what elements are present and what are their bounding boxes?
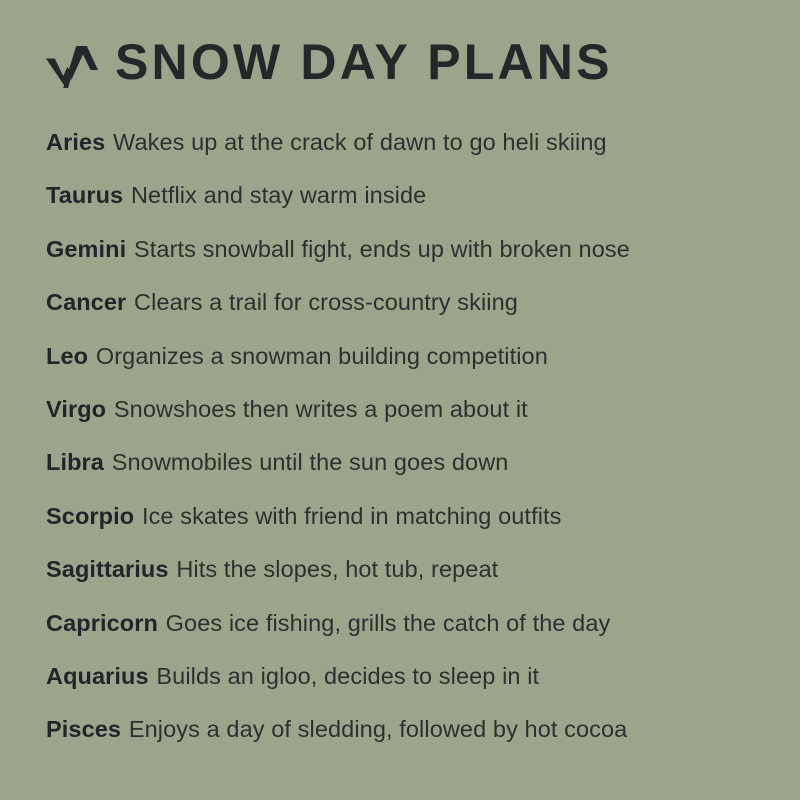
poster-canvas: SNOW DAY PLANS Aries Wakes up at the cra… (0, 0, 800, 800)
list-item: Leo Organizes a snowman building competi… (46, 343, 770, 396)
list-item: Aries Wakes up at the crack of dawn to g… (46, 129, 770, 182)
zodiac-sign-name: Sagittarius (46, 556, 169, 582)
zodiac-sign-name: Aquarius (46, 663, 149, 689)
list-item: Virgo Snowshoes then writes a poem about… (46, 396, 770, 449)
zodiac-sign-name: Aries (46, 129, 105, 155)
zodiac-plan-text: Ice skates with friend in matching outfi… (142, 503, 562, 529)
zodiac-plan-text: Goes ice fishing, grills the catch of th… (166, 610, 611, 636)
zodiac-plan-list: Aries Wakes up at the crack of dawn to g… (46, 129, 770, 770)
zodiac-plan-text: Wakes up at the crack of dawn to go heli… (113, 129, 607, 155)
zodiac-sign-name: Gemini (46, 236, 126, 262)
zodiac-plan-text: Enjoys a day of sledding, followed by ho… (129, 716, 628, 742)
list-item: Capricorn Goes ice fishing, grills the c… (46, 610, 770, 663)
zodiac-plan-text: Starts snowball fight, ends up with brok… (134, 236, 630, 262)
zodiac-sign-name: Virgo (46, 396, 106, 422)
page-title: SNOW DAY PLANS (115, 37, 613, 87)
zodiac-sign-name: Capricorn (46, 610, 158, 636)
list-item: Pisces Enjoys a day of sledding, followe… (46, 716, 770, 769)
list-item: Cancer Clears a trail for cross-country … (46, 289, 770, 342)
list-item: Gemini Starts snowball fight, ends up wi… (46, 236, 770, 289)
zodiac-sign-name: Leo (46, 343, 88, 369)
zodiac-plan-text: Snowmobiles until the sun goes down (112, 449, 509, 475)
list-item: Libra Snowmobiles until the sun goes dow… (46, 449, 770, 502)
list-item: Scorpio Ice skates with friend in matchi… (46, 503, 770, 556)
zodiac-plan-text: Snowshoes then writes a poem about it (114, 396, 528, 422)
list-item: Taurus Netflix and stay warm inside (46, 182, 770, 235)
zodiac-sign-name: Scorpio (46, 503, 134, 529)
zodiac-plan-text: Clears a trail for cross-country skiing (134, 289, 518, 315)
mountain-peaks-checkmark-logo (46, 46, 98, 88)
zodiac-sign-name: Pisces (46, 716, 121, 742)
zodiac-sign-name: Libra (46, 449, 104, 475)
zodiac-plan-text: Netflix and stay warm inside (131, 182, 426, 208)
zodiac-plan-text: Organizes a snowman building competition (96, 343, 548, 369)
zodiac-sign-name: Cancer (46, 289, 126, 315)
zodiac-plan-text: Hits the slopes, hot tub, repeat (176, 556, 498, 582)
list-item: Aquarius Builds an igloo, decides to sle… (46, 663, 770, 716)
zodiac-sign-name: Taurus (46, 182, 123, 208)
poster-header: SNOW DAY PLANS (46, 34, 613, 90)
zodiac-plan-text: Builds an igloo, decides to sleep in it (156, 663, 539, 689)
list-item: Sagittarius Hits the slopes, hot tub, re… (46, 556, 770, 609)
